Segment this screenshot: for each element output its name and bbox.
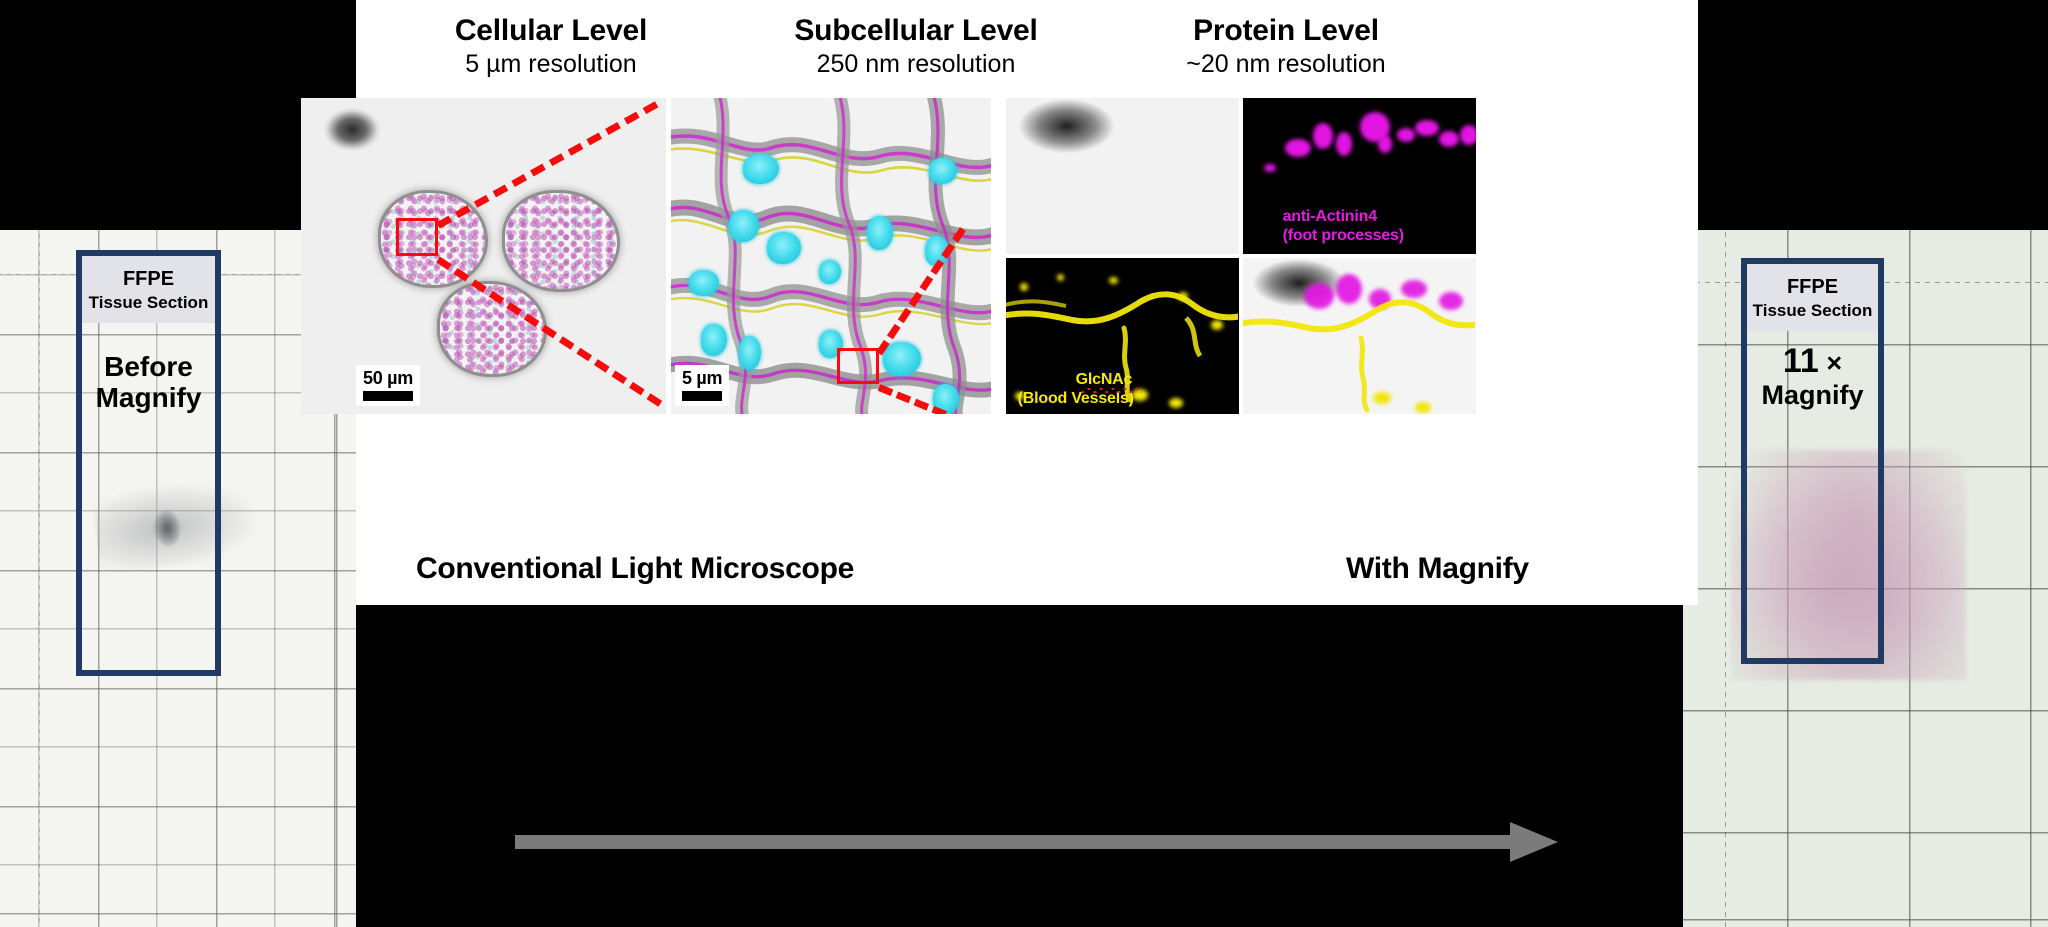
- actinin-signal: [1439, 131, 1459, 147]
- actinin-signal: [1264, 164, 1276, 172]
- protein-panel-glcnac: GlcNAc (Blood Vessels): [1006, 258, 1239, 414]
- actinin-signal: [1378, 135, 1392, 153]
- slide-label-tissue-section-left: Tissue Section: [86, 292, 211, 313]
- slide-state-line1-left: Before: [60, 351, 237, 382]
- column-title-protein-main: Protein Level: [1096, 14, 1476, 49]
- actinin-signal: [1313, 123, 1333, 149]
- magnification-factor-row: 11 ×: [1725, 342, 1900, 380]
- annotation-glcnac-line1: GlcNAc: [1076, 371, 1133, 388]
- column-title-protein-sub: ~20 nm resolution: [1096, 49, 1476, 79]
- slide-label-plate-left: FFPE Tissue Section: [82, 256, 215, 323]
- actinin-signal: [1415, 120, 1439, 136]
- actinin-signal: [1285, 139, 1311, 157]
- scalebar-cellular: 50 µm: [356, 365, 420, 406]
- region-of-interest-box-subcellular: [837, 348, 879, 384]
- slide-state-label-left: Before Magnify: [60, 351, 237, 414]
- caption-with-magnify: With Magnify: [1346, 552, 1529, 586]
- actinin-signal: [1336, 132, 1352, 156]
- protein-panel-merged: [1243, 258, 1476, 414]
- micrograph-subcellular-level: 5 µm: [671, 98, 991, 414]
- protein-panel-brightfield: [1006, 98, 1239, 254]
- column-titles: Cellular Level 5 µm resolution Subcellul…: [356, 14, 1698, 102]
- slide-state-line2-right: Magnify: [1725, 380, 1900, 410]
- scalebar-label-subcellular: 5 µm: [682, 369, 722, 387]
- column-title-subcellular-sub: 250 nm resolution: [736, 49, 1096, 79]
- process-direction-arrow: [515, 822, 1585, 862]
- caption-conventional-microscope: Conventional Light Microscope: [416, 552, 854, 586]
- annotation-actinin4: anti-Actinin4 (foot processes): [1283, 207, 1404, 245]
- column-title-subcellular: Subcellular Level 250 nm resolution: [736, 14, 1096, 79]
- spellcheck-squiggle-icon: [1080, 388, 1142, 393]
- slide-state-label-right: 11 × Magnify: [1725, 342, 1900, 410]
- glcnac-signal: [1057, 274, 1064, 281]
- microscopy-figure-panel: Cellular Level 5 µm resolution Subcellul…: [356, 0, 1698, 605]
- annotation-actinin4-line2: (foot processes): [1283, 226, 1404, 245]
- glcnac-signal: [1415, 402, 1431, 413]
- glcnac-vessel-outline-merged: [1243, 258, 1475, 414]
- slide-label-ffpe-left: FFPE: [86, 268, 211, 292]
- glcnac-signal: [1109, 277, 1118, 284]
- column-title-cellular-sub: 5 µm resolution: [366, 49, 736, 79]
- column-title-protein: Protein Level ~20 nm resolution: [1096, 14, 1476, 79]
- slide-label-plate-right: FFPE Tissue Section: [1747, 264, 1878, 331]
- column-title-cellular-main: Cellular Level: [366, 14, 736, 49]
- magnification-times-symbol: ×: [1826, 348, 1842, 378]
- scalebar-bar-subcellular: [682, 391, 722, 401]
- slide-outline-after: FFPE Tissue Section 11 × Magnify: [1741, 258, 1884, 664]
- micrograph-cellular-level: 50 µm: [301, 98, 666, 414]
- protein-panel-actinin4: anti-Actinin4 (foot processes): [1243, 98, 1476, 254]
- micrograph-protein-level-grid: anti-Actinin4 (foot processes): [1006, 98, 1476, 414]
- column-title-subcellular-main: Subcellular Level: [736, 14, 1096, 49]
- magnification-factor-value: 11: [1783, 342, 1819, 380]
- region-of-interest-box-cellular: [396, 218, 438, 256]
- glomerulus: [505, 193, 617, 289]
- annotation-glcnac: GlcNAc (Blood Vessels): [1018, 370, 1134, 408]
- slide-label-ffpe-right: FFPE: [1751, 276, 1874, 300]
- slide-outline-before: FFPE Tissue Section Before Magnify: [76, 250, 221, 676]
- slide-photo-after: FFPE Tissue Section 11 × Magnify: [1683, 230, 2048, 927]
- actinin-signal: [1397, 128, 1415, 142]
- glcnac-signal: [1020, 283, 1028, 291]
- slide-state-line2-left: Magnify: [60, 382, 237, 413]
- annotation-actinin4-line1: anti-Actinin4: [1283, 207, 1404, 226]
- scalebar-label-cellular: 50 µm: [363, 369, 413, 387]
- scalebar-subcellular: 5 µm: [675, 365, 729, 406]
- arrow-shaft: [515, 835, 1515, 849]
- actinin-signal: [1460, 125, 1476, 145]
- slide-label-tissue-section-right: Tissue Section: [1751, 300, 1874, 321]
- arrow-head-icon: [1510, 822, 1558, 862]
- column-title-cellular: Cellular Level 5 µm resolution: [366, 14, 736, 79]
- figure-root: FFPE Tissue Section Before Magnify FFPE …: [0, 0, 2048, 927]
- scalebar-bar-cellular: [363, 391, 413, 401]
